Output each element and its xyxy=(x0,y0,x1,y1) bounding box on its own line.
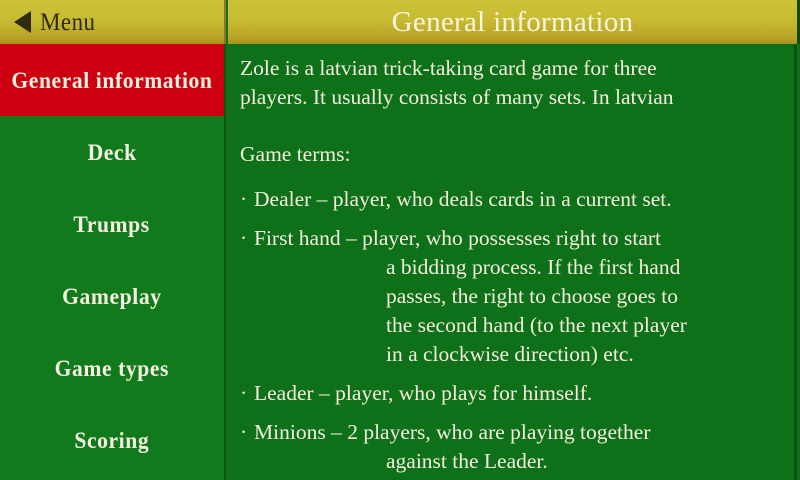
sidebar-nav: General information Deck Trumps Gameplay… xyxy=(0,44,226,480)
page-title: General information xyxy=(392,8,634,37)
term-definition-line: in a clockwise direction) etc. xyxy=(254,340,782,369)
sidebar-item-label: Deck xyxy=(87,141,136,164)
content-body: Zole is a latvian trick-taking card game… xyxy=(228,44,794,476)
sidebar-item-general-information[interactable]: General information xyxy=(0,44,224,116)
back-to-menu-button[interactable]: Menu xyxy=(0,0,226,44)
triangle-left-icon xyxy=(14,11,31,33)
sidebar-item-label: Game types xyxy=(55,357,169,380)
list-item-text: Leader – player, who plays for himself. xyxy=(254,379,782,408)
page-title-bar: General information xyxy=(228,0,800,44)
content-pane[interactable]: Zole is a latvian trick-taking card game… xyxy=(228,44,797,480)
paragraph-spacer xyxy=(240,112,782,140)
term-name: Dealer – xyxy=(254,187,333,211)
term-definition-line: player, who possesses right to start xyxy=(362,226,661,250)
sidebar-item-label: Scoring xyxy=(75,429,150,452)
sidebar-item-deck[interactable]: Deck xyxy=(0,116,224,188)
sidebar-item-scoring[interactable]: Scoring xyxy=(0,404,224,476)
term-name: First hand – xyxy=(254,226,362,250)
list-item-text: Minions – 2 players, who are playing tog… xyxy=(254,418,782,476)
game-terms-heading: Game terms: xyxy=(240,140,782,169)
term-definition-line: player, who deals cards in a current set… xyxy=(333,187,672,211)
heading-spacer xyxy=(240,169,782,185)
sidebar-item-label: General information xyxy=(11,69,212,92)
term-definition-line: player, who plays for himself. xyxy=(335,381,592,405)
list-item-text: First hand – player, who possesses right… xyxy=(254,224,782,369)
intro-paragraph-line-1: Zole is a latvian trick-taking card game… xyxy=(240,54,782,83)
term-definition-line: a bidding process. If the first hand xyxy=(254,253,782,282)
sidebar-item-gameplay[interactable]: Gameplay xyxy=(0,260,224,332)
list-item-text: Dealer – player, who deals cards in a cu… xyxy=(254,185,782,214)
list-item: · Minions – 2 players, who are playing t… xyxy=(240,418,782,476)
sidebar-item-label: Trumps xyxy=(74,213,150,236)
term-definition-line: the second hand (to the next player xyxy=(254,311,782,340)
bullet-icon: · xyxy=(240,379,254,408)
term-name: Minions – xyxy=(254,420,347,444)
bullet-icon: · xyxy=(240,185,254,214)
term-name: Leader – xyxy=(254,381,335,405)
sidebar-item-label: Gameplay xyxy=(62,285,161,308)
term-definition-line: passes, the right to choose goes to xyxy=(254,282,782,311)
list-item: · First hand – player, who possesses rig… xyxy=(240,224,782,369)
app-root: Menu General information General informa… xyxy=(0,0,800,480)
back-to-menu-label: Menu xyxy=(40,10,96,35)
sidebar-item-game-types[interactable]: Game types xyxy=(0,332,224,404)
bullet-icon: · xyxy=(240,224,254,253)
bullet-icon: · xyxy=(240,418,254,447)
list-item: · Dealer – player, who deals cards in a … xyxy=(240,185,782,214)
intro-paragraph-line-2: players. It usually consists of many set… xyxy=(240,83,782,112)
term-definition-line: 2 players, who are playing together xyxy=(347,420,650,444)
list-item: · Leader – player, who plays for himself… xyxy=(240,379,782,408)
sidebar-item-trumps[interactable]: Trumps xyxy=(0,188,224,260)
term-definition-line: against the Leader. xyxy=(254,447,782,476)
